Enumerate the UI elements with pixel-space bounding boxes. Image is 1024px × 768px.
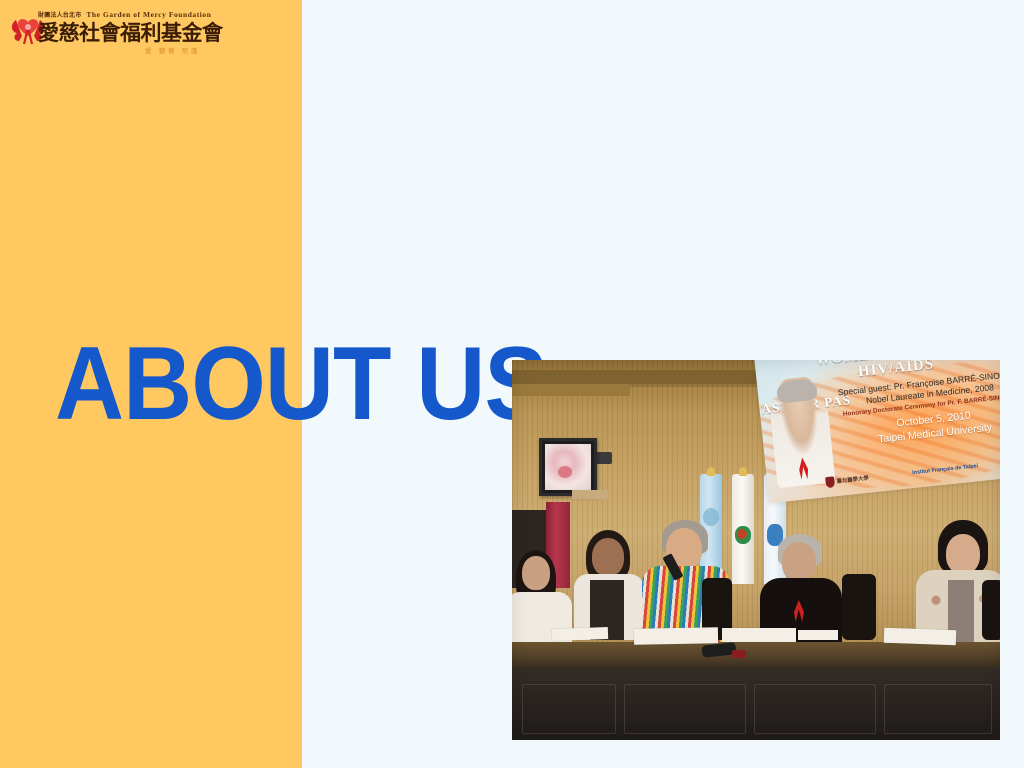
flag-emblem-1 [703, 508, 719, 526]
panelist-2 [572, 534, 646, 642]
paper-sheet-2 [634, 627, 718, 644]
wall-shelf [572, 490, 608, 499]
monitor-screen [545, 444, 591, 490]
conference-table-top [512, 642, 1000, 668]
tmu-crest-icon [825, 476, 835, 488]
paper-sheet-3 [722, 628, 796, 642]
flag-white-green [732, 474, 754, 584]
paper-sheet-4 [884, 628, 956, 646]
table-panel-1 [522, 684, 616, 734]
table-panel-3 [754, 684, 876, 734]
table-panel-2 [624, 684, 746, 734]
panelist-1-head [522, 556, 550, 590]
logo-text-block: 財團法人台北市The Garden of Mercy Foundation 愛慈… [38, 10, 214, 56]
table-panel-4 [884, 684, 992, 734]
flag-emblem-2 [735, 526, 751, 544]
taipei-medical-university-logo: 臺北醫學大學 [825, 472, 869, 487]
logo-subtitle-chinese: 財團法人台北市 [38, 12, 81, 19]
slide-root: 財團法人台北市The Garden of Mercy Foundation 愛慈… [0, 0, 1024, 768]
institut-francais-taipei-logo: Institut Français de Taipei [912, 463, 978, 477]
logo-main-chinese: 愛慈社會福利基金會 [38, 21, 214, 45]
logo-subtitle-english: The Garden of Mercy Foundation [86, 10, 211, 19]
panelist-5-head [946, 534, 980, 574]
logo-subtitle-line: 財團法人台北市The Garden of Mercy Foundation [38, 10, 214, 20]
panelist-4-head [782, 542, 816, 582]
wall-step [512, 384, 630, 396]
event-banner: WOMEN & GLOBAL HIV/AIDS ASTEUR PAS Speci… [754, 360, 1000, 503]
paper-sheet-5 [798, 630, 838, 640]
paper-sheet-1 [552, 627, 608, 641]
chair-2 [842, 574, 876, 640]
table-microphone-2 [732, 650, 746, 658]
event-photo: WOMEN & GLOBAL HIV/AIDS ASTEUR PAS Speci… [512, 360, 1000, 740]
page-title: ABOUT US [55, 332, 547, 436]
flag-finial-2 [739, 467, 747, 476]
logo-tagline: 愛 藉著 照護 [38, 46, 214, 56]
tmu-label: 臺北醫學大學 [836, 475, 869, 484]
chair-3 [982, 580, 1000, 640]
portrait-hair [776, 378, 818, 404]
panelist-2-head [592, 538, 624, 576]
wall-mounted-tv-monitor [539, 438, 597, 496]
foundation-logo[interactable]: 財團法人台北市The Garden of Mercy Foundation 愛慈… [10, 10, 210, 62]
red-aids-ribbon-icon [798, 457, 809, 480]
flag-finial-1 [707, 467, 715, 476]
